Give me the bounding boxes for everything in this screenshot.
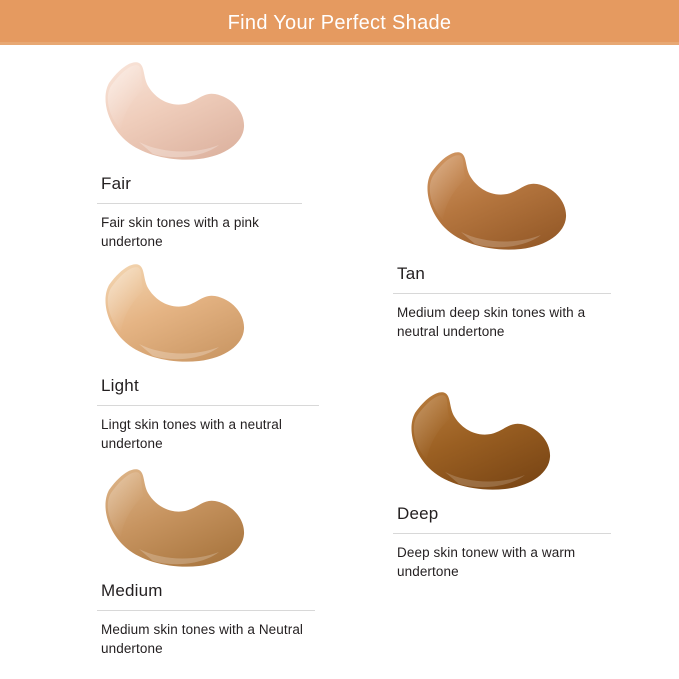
shade-card-light[interactable]: Light Lingt skin tones with a neutral un… <box>97 262 319 454</box>
shade-divider-tan <box>393 293 611 294</box>
shade-card-tan[interactable]: Tan Medium deep skin tones with a neutra… <box>393 150 611 342</box>
shade-description-fair: Fair skin tones with a pink undertone <box>101 213 302 252</box>
swatch-medium <box>99 467 254 572</box>
shade-name-tan: Tan <box>397 265 611 284</box>
shade-description-deep: Deep skin tonew with a warm undertone <box>397 543 611 582</box>
shade-divider-deep <box>393 533 611 534</box>
page-title: Find Your Perfect Shade <box>228 13 452 33</box>
shade-description-medium: Medium skin tones with a Neutral underto… <box>101 620 315 659</box>
shade-description-light: Lingt skin tones with a neutral underton… <box>101 415 319 454</box>
shade-divider-fair <box>97 203 302 204</box>
swatch-light <box>99 262 254 367</box>
shade-card-medium[interactable]: Medium Medium skin tones with a Neutral … <box>97 467 315 659</box>
shade-description-tan: Medium deep skin tones with a neutral un… <box>397 303 611 342</box>
shade-divider-medium <box>97 610 315 611</box>
shade-name-deep: Deep <box>397 505 611 524</box>
shade-name-light: Light <box>101 377 319 396</box>
swatch-fair <box>99 60 254 165</box>
shade-name-fair: Fair <box>101 175 302 194</box>
swatch-deep <box>405 390 560 495</box>
page-header: Find Your Perfect Shade <box>0 0 679 45</box>
shade-divider-light <box>97 405 319 406</box>
shade-card-fair[interactable]: Fair Fair skin tones with a pink underto… <box>97 60 302 252</box>
shade-board: Fair Fair skin tones with a pink underto… <box>0 45 679 679</box>
swatch-tan <box>421 150 576 255</box>
shade-name-medium: Medium <box>101 582 315 601</box>
shade-card-deep[interactable]: Deep Deep skin tonew with a warm underto… <box>393 390 611 582</box>
